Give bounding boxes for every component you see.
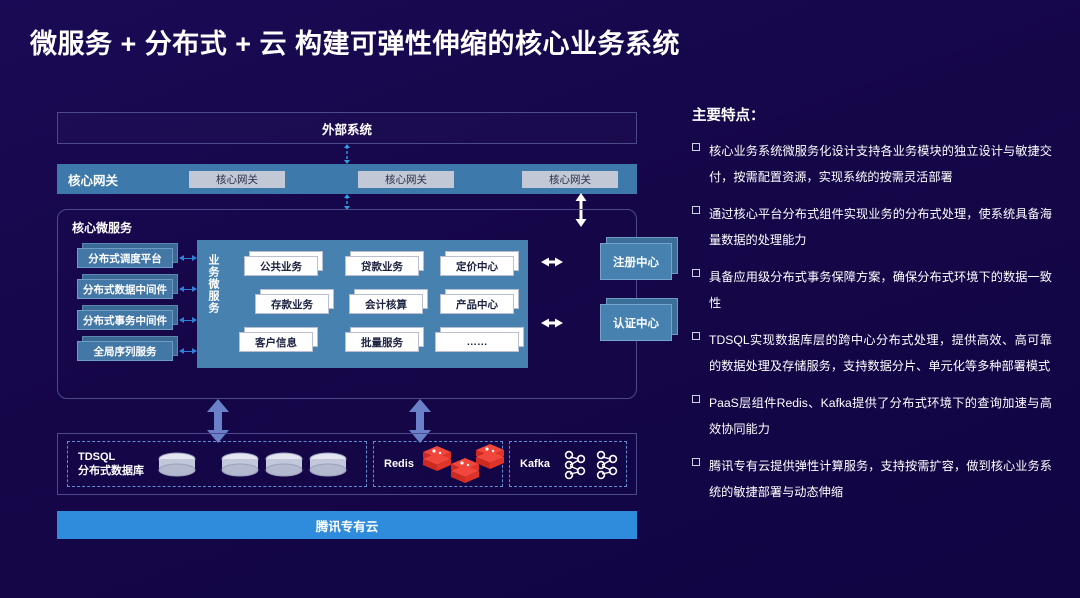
feature-text-1: 核心业务系统微服务化设计支持各业务模块的独立设计与敏捷交付，按需配置资源，实现系… [709, 138, 1052, 190]
features-panel: 主要特点： 核心业务系统微服务化设计支持各业务模块的独立设计与敏捷交付，按需配置… [692, 104, 1052, 516]
redis-cube-icon-1 [422, 445, 452, 472]
feature-text-2: 通过核心平台分布式组件实现业务的分布式处理，使系统具备海量数据的处理能力 [709, 201, 1052, 253]
business-card-1[interactable]: 公共业务 [244, 256, 318, 276]
redis-label: Redis [384, 457, 414, 471]
left-component-1[interactable]: 分布式调度平台 [77, 248, 173, 268]
kafka-node-icon-1 [562, 450, 588, 480]
square-bullet-icon [692, 395, 700, 403]
core-gateway-bar: 核心网关 核心网关 核心网关 核心网关 [57, 164, 637, 194]
kafka-label: Kafka [520, 457, 550, 471]
gateway-chip-1: 核心网关 [189, 171, 285, 188]
business-card-8[interactable]: 批量服务 [345, 332, 419, 352]
square-bullet-icon [692, 206, 700, 214]
database-cylinder-icon-1 [157, 452, 197, 478]
right-component-auth[interactable]: 认证中心 [600, 304, 672, 341]
tdsql-box: TDSQL 分布式数据库 [67, 441, 367, 487]
square-bullet-icon [692, 143, 700, 151]
business-card-4[interactable]: 存款业务 [255, 294, 329, 314]
connector-left-2 [180, 289, 196, 290]
business-card-5[interactable]: 会计核算 [349, 294, 423, 314]
feature-item-5: PaaS层组件Redis、Kafka提供了分布式环境下的查询加速与高效协同能力 [692, 390, 1052, 442]
feature-text-4: TDSQL实现数据库层的跨中心分布式处理，提供高效、高可靠的数据处理及存储服务，… [709, 327, 1052, 379]
connector-gateway-to-microservice [341, 194, 353, 210]
left-component-2[interactable]: 分布式数据中间件 [77, 279, 173, 299]
white-double-arrow-auth [541, 317, 563, 329]
feature-text-5: PaaS层组件Redis、Kafka提供了分布式环境下的查询加速与高效协同能力 [709, 390, 1052, 442]
kafka-node-icon-2 [594, 450, 620, 480]
gateway-chip-3: 核心网关 [522, 171, 618, 188]
feature-text-3: 具备应用级分布式事务保障方案，确保分布式环境下的数据一致性 [709, 264, 1052, 316]
features-heading: 主要特点： [692, 104, 1052, 125]
square-bullet-icon [692, 332, 700, 340]
core-gateway-label: 核心网关 [68, 170, 144, 189]
tdsql-label: TDSQL 分布式数据库 [78, 450, 144, 478]
tencent-cloud-bar: 腾讯专有云 [57, 511, 637, 539]
tdsql-label-line1: TDSQL [78, 451, 115, 463]
database-cylinder-icon-4 [308, 452, 348, 478]
business-card-2[interactable]: 贷款业务 [345, 256, 419, 276]
core-microservice-panel: 核心微服务 分布式调度平台 分布式数据中间件 分布式事务中间件 全局序列服务 业… [57, 209, 637, 399]
left-component-4[interactable]: 全局序列服务 [77, 341, 173, 361]
square-bullet-icon [692, 458, 700, 466]
business-card-3[interactable]: 定价中心 [440, 256, 514, 276]
architecture-diagram: 外部系统 核心网关 核心网关 核心网关 核心网关 核心 [57, 112, 637, 537]
external-system-label: 外部系统 [322, 119, 372, 138]
connector-external-to-gateway [341, 144, 353, 164]
redis-box: Redis [373, 441, 503, 487]
feature-item-4: TDSQL实现数据库层的跨中心分布式处理，提供高效、高可靠的数据处理及存储服务，… [692, 327, 1052, 379]
business-card-9[interactable]: …… [435, 332, 519, 352]
feature-item-1: 核心业务系统微服务化设计支持各业务模块的独立设计与敏捷交付，按需配置资源，实现系… [692, 138, 1052, 190]
page-title: 微服务 + 分布式 + 云 构建可弹性伸缩的核心业务系统 [30, 22, 680, 61]
database-cylinder-icon-3 [264, 452, 304, 478]
connector-left-4 [180, 351, 196, 352]
connector-left-3 [180, 320, 196, 321]
external-system-box: 外部系统 [57, 112, 637, 144]
feature-text-6: 腾讯专有云提供弹性计算服务，支持按需扩容，做到核心业务系统的敏捷部署与动态伸缩 [709, 453, 1052, 505]
feature-item-6: 腾讯专有云提供弹性计算服务，支持按需扩容，做到核心业务系统的敏捷部署与动态伸缩 [692, 453, 1052, 505]
kafka-box: Kafka [509, 441, 627, 487]
core-microservice-title: 核心微服务 [72, 219, 132, 236]
slide-root: 微服务 + 分布式 + 云 构建可弹性伸缩的核心业务系统 外部系统 核心网关 核… [0, 0, 1080, 598]
left-component-3[interactable]: 分布式事务中间件 [77, 310, 173, 330]
feature-item-3: 具备应用级分布式事务保障方案，确保分布式环境下的数据一致性 [692, 264, 1052, 316]
tdsql-label-line2: 分布式数据库 [78, 465, 144, 477]
right-component-registry[interactable]: 注册中心 [600, 243, 672, 280]
square-bullet-icon [692, 269, 700, 277]
white-double-arrow-registry [541, 256, 563, 268]
database-cylinder-icon-2 [220, 452, 260, 478]
business-microservice-inner-panel: 业务微服务 公共业务 贷款业务 定价中心 存款业务 会计核算 产品中心 客户信息… [197, 240, 528, 368]
gateway-chip-2: 核心网关 [358, 171, 454, 188]
tencent-cloud-label: 腾讯专有云 [316, 516, 379, 535]
feature-item-2: 通过核心平台分布式组件实现业务的分布式处理，使系统具备海量数据的处理能力 [692, 201, 1052, 253]
business-card-7[interactable]: 客户信息 [239, 332, 313, 352]
business-card-6[interactable]: 产品中心 [440, 294, 514, 314]
connector-left-1 [180, 258, 196, 259]
business-microservice-vertical-label: 业务微服务 [205, 254, 221, 314]
redis-cube-icon-3 [475, 443, 505, 470]
